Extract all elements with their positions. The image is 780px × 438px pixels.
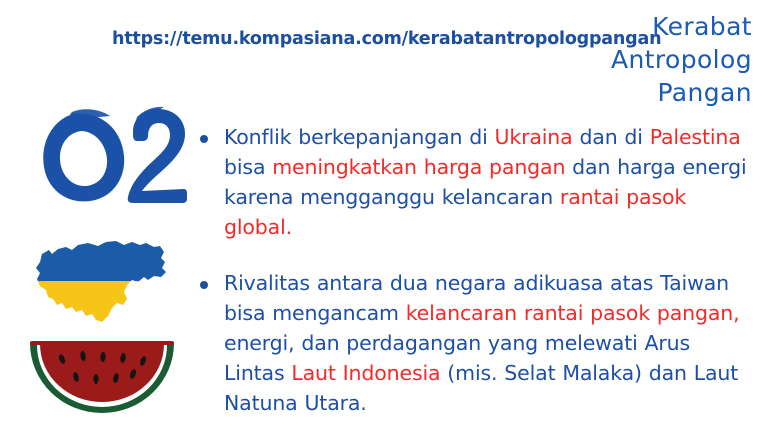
bullet-1-text: Konflik berkepanjangan di Ukraina dan di… bbox=[224, 122, 756, 242]
ukraine-map-icon bbox=[28, 236, 176, 331]
seg: bisa bbox=[224, 155, 272, 179]
seg: Konflik berkepanjangan di bbox=[224, 125, 495, 149]
bullet-dot-icon bbox=[200, 135, 208, 143]
seg-highlight: Laut Indonesia bbox=[291, 361, 440, 385]
slide-canvas: https://temu.kompasiana.com/kerabatantro… bbox=[0, 0, 780, 438]
watermelon-icon bbox=[26, 333, 178, 417]
seg-highlight: kelancaran rantai pasok pangan, bbox=[406, 301, 740, 325]
seg-highlight: Ukraina bbox=[495, 125, 573, 149]
bullet-list: Konflik berkepanjangan di Ukraina dan di… bbox=[196, 122, 756, 418]
bullet-2-text: Rivalitas antara dua negara adikuasa ata… bbox=[224, 268, 756, 418]
brand-title-line-3: Pangan bbox=[562, 76, 752, 109]
bullet-dot-icon bbox=[200, 281, 208, 289]
list-item: Konflik berkepanjangan di Ukraina dan di… bbox=[196, 122, 756, 242]
brand-title-line-1: Kerabat bbox=[562, 10, 752, 43]
brand-title-line-2: Antropolog bbox=[562, 43, 752, 76]
list-item: Rivalitas antara dua negara adikuasa ata… bbox=[196, 268, 756, 418]
slide-number-02-graphic bbox=[38, 103, 188, 208]
seg-highlight: Palestina bbox=[650, 125, 741, 149]
seg-highlight: meningkatkan harga pangan bbox=[272, 155, 565, 179]
seg: dan di bbox=[573, 125, 650, 149]
brand-title: Kerabat Antropolog Pangan bbox=[562, 10, 752, 109]
